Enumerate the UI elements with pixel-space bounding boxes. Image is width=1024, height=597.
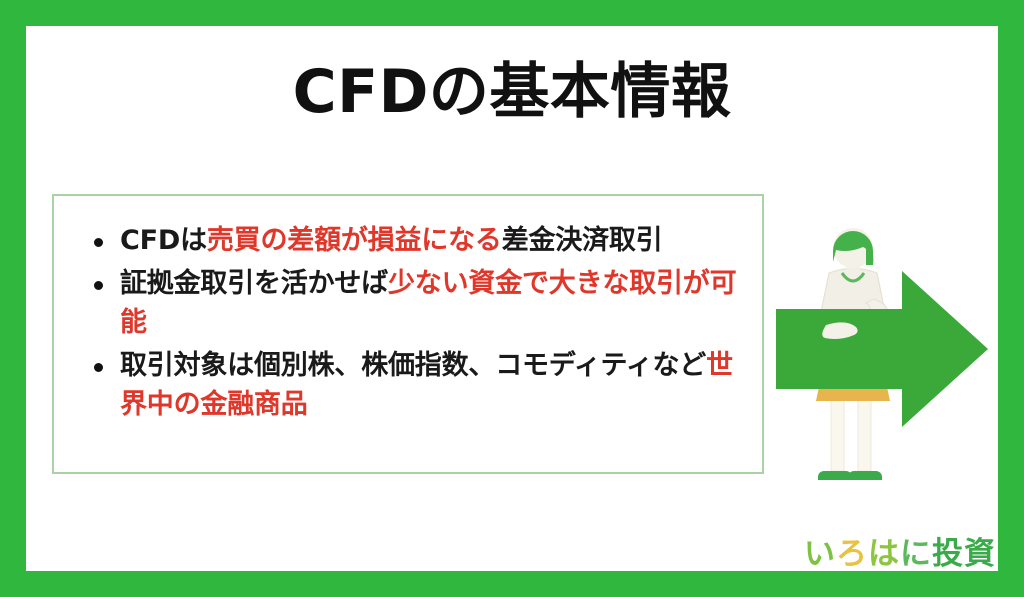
logo-char: い [804, 536, 836, 571]
right-arrow-shape [776, 271, 988, 427]
logo-char: は [868, 536, 900, 571]
legs-shape [831, 396, 871, 471]
bullet-segment: 証拠金取引を活かせば [120, 268, 388, 299]
slide-frame: CFDの基本情報 CFDは売買の差額が損益になる差金決済取引 証拠金取引を活かせ… [0, 0, 1024, 597]
shoes-shape [818, 471, 882, 480]
brand-logo: いろはに投資 [804, 532, 994, 571]
list-item: 証拠金取引を活かせば少ない資金で大きな取引が可能 [90, 265, 744, 343]
list-item: CFDは売買の差額が損益になる差金決済取引 [90, 222, 744, 261]
list-item: 取引対象は個別株、株価指数、コモディティなど世界中の金融商品 [90, 347, 744, 425]
bullet-panel: CFDは売買の差額が損益になる差金決済取引 証拠金取引を活かせば少ない資金で大き… [52, 194, 764, 474]
logo-char: に [900, 536, 932, 571]
bullet-segment: CFDは [120, 225, 207, 256]
logo-char: ろ [836, 536, 868, 571]
bullet-segment: 取引対象は個別株、株価指数、コモディティなど [120, 350, 706, 381]
woman-holding-right-arrow-illustration [774, 221, 998, 491]
logo-char: 投資 [932, 536, 996, 571]
bullet-segment: 差金決済取引 [502, 225, 663, 256]
page-title: CFDの基本情報 [26, 61, 998, 124]
bullet-list: CFDは売買の差額が損益になる差金決済取引 証拠金取引を活かせば少ない資金で大き… [54, 196, 762, 424]
slide-content: CFDの基本情報 CFDは売買の差額が損益になる差金決済取引 証拠金取引を活かせ… [26, 26, 998, 571]
bullet-segment-highlight: 売買の差額が損益になる [207, 225, 502, 256]
